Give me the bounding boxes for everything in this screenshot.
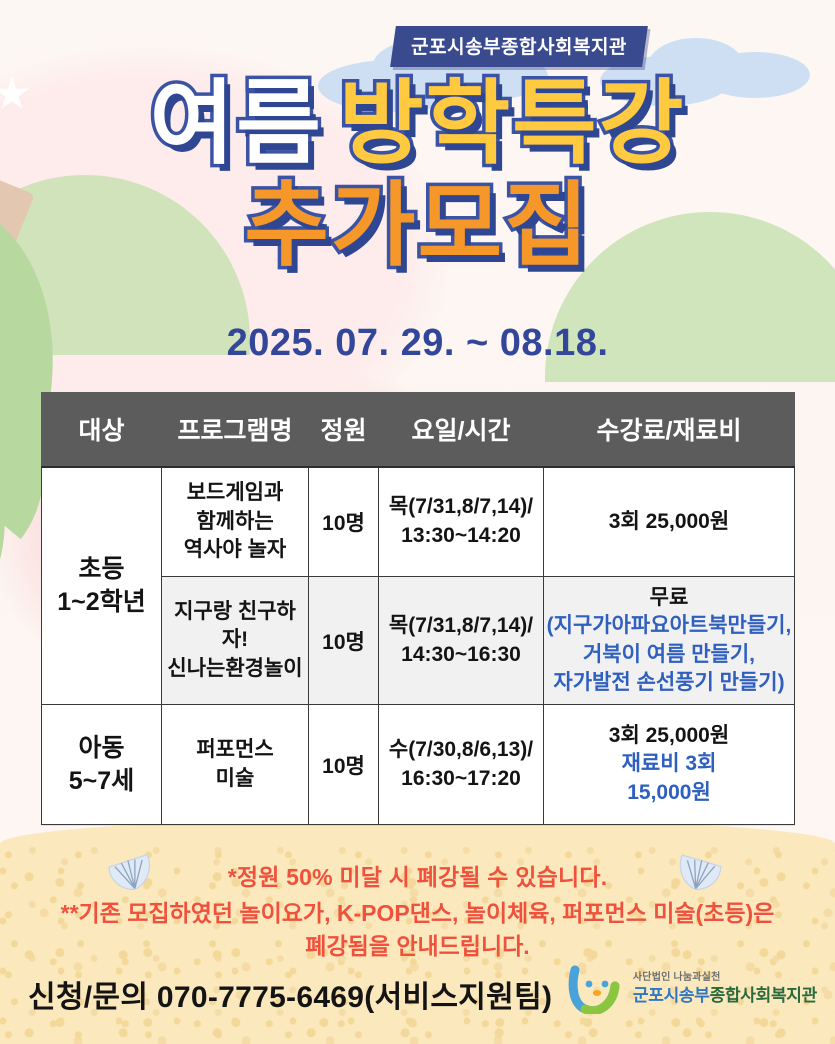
column-header-capacity: 정원 bbox=[309, 393, 379, 467]
logo-text: 사단법인 나눔과실천 군포시송부종합사회복지관 bbox=[633, 972, 817, 1006]
note-closed-programs-line-1: **기존 모집하였던 놀이요가, K-POP댄스, 놀이체육, 퍼포먼스 미술(… bbox=[61, 900, 775, 926]
column-header-program: 프로그램명 bbox=[162, 393, 309, 467]
cell-target-child: 아동5~7세 bbox=[42, 705, 162, 825]
note-cancellation: *정원 50% 미달 시 폐강될 수 있습니다. bbox=[0, 860, 835, 895]
logo-title-green: 종합사회복지관 bbox=[710, 986, 817, 1005]
poster-root: 군포시송부종합사회복지관 여름방학특강 추가모집 2025. 07. 29. ~… bbox=[0, 0, 835, 1044]
cell-schedule-3: 수(7/30,8/6,13)/16:30~17:20 bbox=[379, 705, 544, 825]
cell-fee-3: 3회 25,000원 재료비 3회15,000원 bbox=[544, 705, 795, 825]
table-row: 초등1~2학년 보드게임과함께하는역사야 놀자 10명 목(7/31,8/7,1… bbox=[42, 467, 795, 577]
headline-line-2: 추가모집 bbox=[0, 180, 835, 272]
cell-program-3: 퍼포먼스미술 bbox=[162, 705, 309, 825]
logo-subtitle: 사단법인 나눔과실천 bbox=[633, 972, 817, 985]
cell-program-1: 보드게임과함께하는역사야 놀자 bbox=[162, 467, 309, 577]
contact-info: 신청/문의 070-7775-6469(서비스지원팀) bbox=[28, 972, 552, 1016]
fee-note-3: 재료비 3회15,000원 bbox=[544, 750, 794, 807]
schedule-table: 대상 프로그램명 정원 요일/시간 수강료/재료비 초등1~2학년 보드게임과함… bbox=[41, 392, 795, 825]
table-row: 아동5~7세 퍼포먼스미술 10명 수(7/30,8/6,13)/16:30~1… bbox=[42, 705, 795, 825]
organization-name: 군포시송부종합사회복지관 bbox=[411, 32, 627, 59]
headline-word-special-class: 방학특강 bbox=[339, 73, 686, 175]
headline-line-1: 여름방학특강 bbox=[0, 78, 835, 170]
fee-note-2: (지구가아파요아트북만들기,거북이 여름 만들기,자가발전 손선풍기 만들기) bbox=[544, 612, 794, 697]
cell-target-elementary: 초등1~2학년 bbox=[42, 467, 162, 705]
column-header-fee: 수강료/재료비 bbox=[544, 393, 795, 467]
cell-fee-1: 3회 25,000원 bbox=[544, 467, 795, 577]
page-title: 여름방학특강 추가모집 bbox=[0, 78, 835, 272]
note-closed-programs: **기존 모집하였던 놀이요가, K-POP댄스, 놀이체육, 퍼포먼스 미술(… bbox=[0, 895, 835, 964]
date-range: 2025. 07. 29. ~ 08.18. bbox=[0, 322, 835, 365]
smile-logo-icon bbox=[565, 964, 623, 1014]
footer: 신청/문의 070-7775-6469(서비스지원팀) 사단법인 나눔과실천 군… bbox=[0, 960, 835, 1030]
headline-word-summer: 여름 bbox=[150, 73, 323, 175]
cell-schedule-1: 목(7/31,8/7,14)/13:30~14:20 bbox=[379, 467, 544, 577]
organization-logo: 사단법인 나눔과실천 군포시송부종합사회복지관 bbox=[565, 964, 817, 1014]
headline-word-extra-recruit: 추가모집 bbox=[244, 175, 591, 277]
column-header-schedule: 요일/시간 bbox=[379, 393, 544, 467]
organization-ribbon: 군포시송부종합사회복지관 bbox=[390, 26, 648, 67]
cell-capacity-1: 10명 bbox=[309, 467, 379, 577]
cell-schedule-2: 목(7/31,8/7,14)/14:30~16:30 bbox=[379, 577, 544, 705]
fee-main-1: 3회 25,000원 bbox=[609, 510, 729, 533]
cell-fee-2: 무료 (지구가아파요아트북만들기,거북이 여름 만들기,자가발전 손선풍기 만들… bbox=[544, 577, 795, 705]
logo-title: 군포시송부종합사회복지관 bbox=[633, 985, 817, 1006]
column-header-target: 대상 bbox=[42, 393, 162, 467]
logo-title-blue: 군포시송부 bbox=[633, 986, 710, 1005]
cell-program-2: 지구랑 친구하자!신나는환경놀이 bbox=[162, 577, 309, 705]
notes-section: *정원 50% 미달 시 폐강될 수 있습니다. **기존 모집하였던 놀이요가… bbox=[0, 860, 835, 963]
fee-main-2: 무료 bbox=[650, 586, 689, 609]
cell-capacity-2: 10명 bbox=[309, 577, 379, 705]
fee-main-3: 3회 25,000원 bbox=[609, 724, 729, 747]
cell-capacity-3: 10명 bbox=[309, 705, 379, 825]
schedule-table-wrapper: 대상 프로그램명 정원 요일/시간 수강료/재료비 초등1~2학년 보드게임과함… bbox=[41, 392, 794, 825]
note-closed-programs-line-2: 폐강됨을 안내드립니다. bbox=[305, 933, 529, 959]
table-header-row: 대상 프로그램명 정원 요일/시간 수강료/재료비 bbox=[42, 393, 795, 467]
